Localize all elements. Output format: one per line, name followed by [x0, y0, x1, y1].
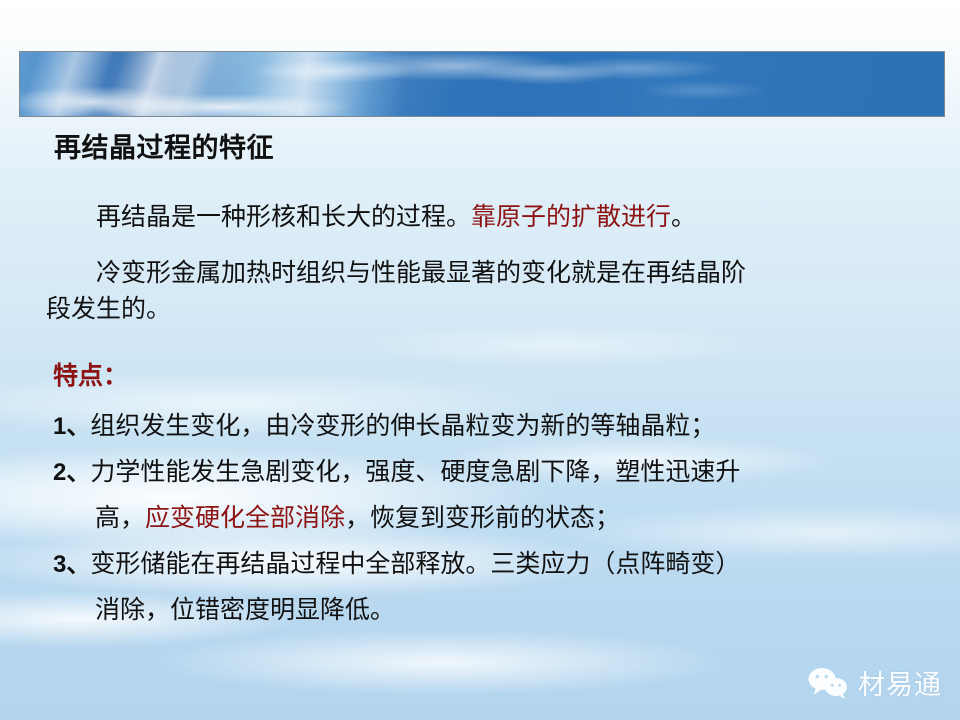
list-item: 3、变形储能在再结晶过程中全部释放。三类应力（点阵畸变） — [53, 542, 953, 588]
list-item-3-number: 3、 — [53, 551, 90, 578]
list-item-3-text: 变形储能在再结晶过程中全部释放。三类应力（点阵畸变） — [90, 551, 740, 578]
list-item-2-cont-highlight: 应变硬化全部消除 — [145, 505, 345, 532]
page-title: 再结晶过程的特征 — [54, 133, 274, 164]
paragraph-2-line-1: 冷变形金属加热时组织与性能最显著的变化就是在再结晶阶 — [46, 256, 946, 292]
paragraph-2-line-2: 段发生的。 — [46, 292, 946, 328]
watermark-text: 材易通 — [858, 663, 942, 702]
list-item-2-cont-before: 高， — [95, 505, 145, 532]
paragraph-2: 冷变形金属加热时组织与性能最显著的变化就是在再结晶阶 段发生的。 — [46, 256, 946, 328]
paragraph-2-line-1-text: 冷变形金属加热时组织与性能最显著的变化就是在再结晶阶 — [96, 260, 746, 287]
paragraph-1-segment-1: 再结晶是一种形核和长大的过程。 — [96, 204, 471, 231]
features-list: 1、组织发生变化，由冷变形的伸长晶粒变为新的等轴晶粒； 2、力学性能发生急剧变化… — [53, 404, 953, 634]
list-item: 2、力学性能发生急剧变化，强度、硬度急剧下降，塑性迅速升 — [53, 450, 953, 496]
list-item-3-continuation: 消除，位错密度明显降低。 — [95, 588, 953, 634]
paragraph-1-segment-3: 。 — [671, 204, 696, 231]
list-item-2-text: 力学性能发生急剧变化，强度、硬度急剧下降，塑性迅速升 — [90, 459, 740, 486]
list-item-2-continuation: 高，应变硬化全部消除，恢复到变形前的状态； — [95, 496, 953, 542]
list-item-2-cont-after: ，恢复到变形前的状态； — [345, 505, 620, 532]
list-item-1-number: 1、 — [53, 413, 90, 440]
wechat-icon — [807, 666, 849, 700]
banner-cloud-streaks — [20, 52, 944, 116]
list-item-1-text: 组织发生变化，由冷变形的伸长晶粒变为新的等轴晶粒； — [90, 413, 715, 440]
features-heading: 特点： — [53, 360, 128, 394]
list-item: 1、组织发生变化，由冷变形的伸长晶粒变为新的等轴晶粒； — [53, 404, 953, 450]
paragraph-1-segment-2-highlight: 靠原子的扩散进行 — [471, 204, 671, 231]
slide-canvas: 再结晶过程的特征 再结晶是一种形核和长大的过程。靠原子的扩散进行。 冷变形金属加… — [0, 0, 960, 720]
list-item-3-cont-before: 消除，位错密度明显降低。 — [95, 597, 395, 624]
watermark: 材易通 — [807, 663, 942, 702]
list-item-2-number: 2、 — [53, 459, 90, 486]
header-banner-image — [19, 51, 945, 117]
paragraph-1: 再结晶是一种形核和长大的过程。靠原子的扩散进行。 — [46, 200, 946, 236]
